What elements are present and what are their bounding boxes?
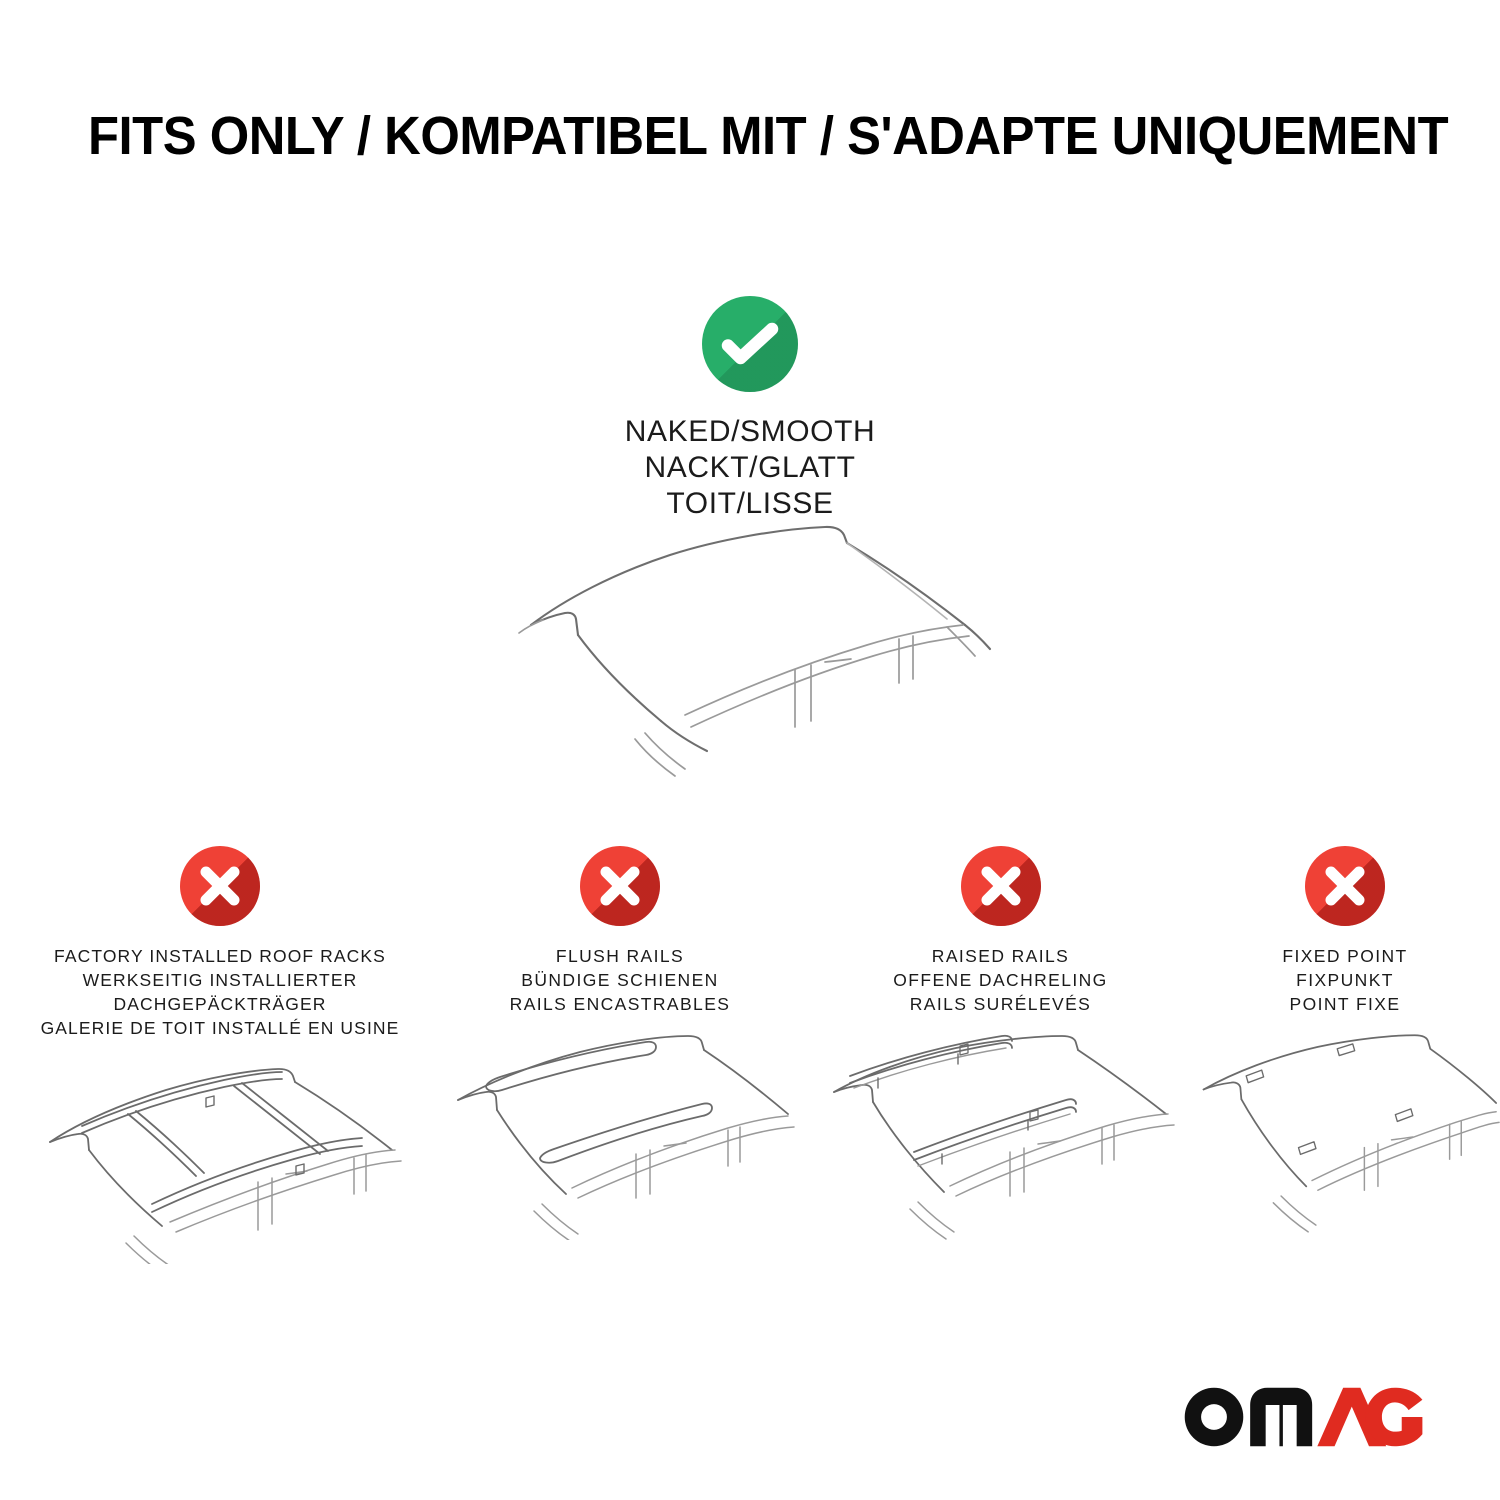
compatible-caption: NAKED/SMOOTH NACKT/GLATT TOIT/LISSE — [430, 414, 1070, 522]
incompatible-caption: RAISED RAILS OFFENE DACHRELING RAILS SUR… — [818, 944, 1183, 1016]
incompatible-item-fixed-point: FIXED POINT FIXPUNKT POINT FIXE — [1190, 846, 1500, 1240]
check-circle-icon — [702, 296, 798, 392]
compatible-caption-line-1: NAKED/SMOOTH — [430, 414, 1070, 450]
logo-letter-c — [1365, 1388, 1422, 1447]
page-title: FITS ONLY / KOMPATIBEL MIT / S'ADAPTE UN… — [88, 106, 1338, 166]
car-roof-fixed-point-illustration — [1190, 1030, 1500, 1240]
caption-line-4: GALERIE DE TOIT INSTALLÉ EN USINE — [10, 1016, 430, 1040]
car-roof-factory-racks-illustration — [10, 1054, 430, 1264]
car-roof-naked-smooth-illustration — [495, 515, 1035, 795]
caption-line-1: FACTORY INSTALLED ROOF RACKS — [10, 944, 430, 968]
incompatible-item-raised-rails: RAISED RAILS OFFENE DACHRELING RAILS SUR… — [818, 846, 1183, 1240]
logo-letter-m — [1250, 1388, 1312, 1447]
omac-logo: OMAC — [1183, 1386, 1424, 1448]
incompatible-item-flush-rails: FLUSH RAILS BÜNDIGE SCHIENEN RAILS ENCAS… — [440, 846, 800, 1240]
caption-line-3: RAILS ENCASTRABLES — [440, 992, 800, 1016]
caption-line-2: OFFENE DACHRELING — [818, 968, 1183, 992]
incompatible-caption: FLUSH RAILS BÜNDIGE SCHIENEN RAILS ENCAS… — [440, 944, 800, 1016]
x-circle-icon — [580, 846, 660, 926]
caption-line-3: RAILS SURÉLEVÉS — [818, 992, 1183, 1016]
compatible-caption-line-2: NACKT/GLATT — [430, 450, 1070, 486]
caption-line-2: WERKSEITIG INSTALLIERTER — [10, 968, 430, 992]
fitment-infographic: FITS ONLY / KOMPATIBEL MIT / S'ADAPTE UN… — [0, 0, 1500, 1500]
x-circle-icon — [1305, 846, 1385, 926]
caption-line-2: BÜNDIGE SCHIENEN — [440, 968, 800, 992]
x-circle-icon — [961, 846, 1041, 926]
caption-line-1: FIXED POINT — [1190, 944, 1500, 968]
incompatible-caption: FIXED POINT FIXPUNKT POINT FIXE — [1190, 944, 1500, 1016]
compatible-section: NAKED/SMOOTH NACKT/GLATT TOIT/LISSE — [430, 296, 1070, 522]
logo-letter-o — [1185, 1388, 1244, 1447]
caption-line-2: FIXPUNKT — [1190, 968, 1500, 992]
car-roof-flush-rails-illustration — [440, 1030, 800, 1240]
caption-line-3: POINT FIXE — [1190, 992, 1500, 1016]
incompatible-item-factory-racks: FACTORY INSTALLED ROOF RACKS WERKSEITIG … — [10, 846, 430, 1264]
incompatible-caption: FACTORY INSTALLED ROOF RACKS WERKSEITIG … — [10, 944, 430, 1040]
car-roof-raised-rails-illustration — [818, 1030, 1183, 1240]
x-circle-icon — [180, 846, 260, 926]
caption-line-3: DACHGEPÄCKTRÄGER — [10, 992, 430, 1016]
caption-line-1: FLUSH RAILS — [440, 944, 800, 968]
incompatible-section: FACTORY INSTALLED ROOF RACKS WERKSEITIG … — [0, 846, 1500, 1326]
caption-line-1: RAISED RAILS — [818, 944, 1183, 968]
